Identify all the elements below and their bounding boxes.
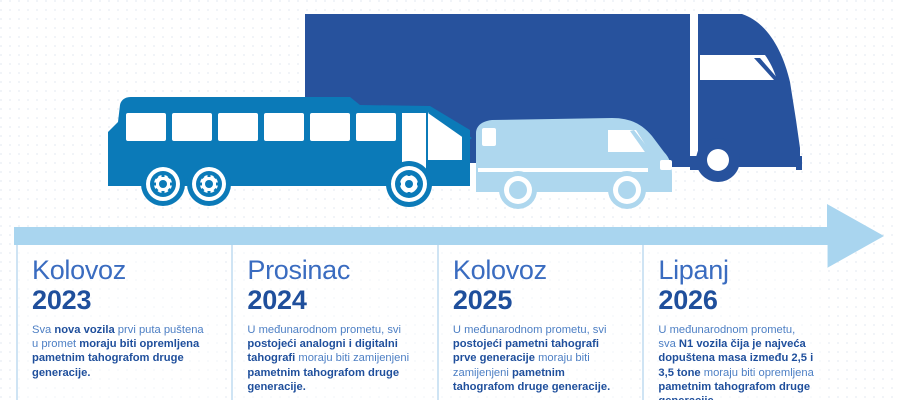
milestone-month: Kolovoz <box>453 255 622 285</box>
milestone-description: U međunarodnom prometu, svi postojeći pa… <box>453 323 622 394</box>
milestone-card-2023[interactable]: Kolovoz 2023 Sva nova vozila prvi puta p… <box>16 245 225 400</box>
milestone-year: 2024 <box>247 285 416 316</box>
plain-text: U međunarodnom prometu, svi <box>453 324 607 336</box>
milestone-month: Lipanj <box>658 255 814 285</box>
milestone-description: U međunarodnom prometu, svi postojeći an… <box>247 323 416 394</box>
tachograph-timeline-infographic: Kolovoz 2023 Sva nova vozila prvi puta p… <box>0 0 900 400</box>
milestone-year: 2023 <box>32 285 211 316</box>
milestone-month: Kolovoz <box>32 255 211 285</box>
plain-text: U međunarodnom prometu, svi <box>247 324 401 336</box>
plain-text: Sva <box>32 324 54 336</box>
milestone-description: Sva nova vozila prvi puta puštena u prom… <box>32 323 211 380</box>
van-illustration <box>476 118 672 209</box>
milestone-description: U međunarodnom prometu, sva N1 vozila či… <box>658 323 814 400</box>
milestone-card-2024[interactable]: Prosinac 2024 U međunarodnom prometu, sv… <box>231 245 430 400</box>
plain-text: moraju biti opremljena <box>701 367 814 379</box>
plain-text: moraju biti zamijenjeni <box>295 352 409 364</box>
milestone-year: 2026 <box>658 285 814 316</box>
emphasis-text: pametnim tahografom druge generacije. <box>247 367 399 393</box>
milestone-year: 2025 <box>453 285 622 316</box>
milestone-month: Prosinac <box>247 255 416 285</box>
emphasis-text: nova vozila <box>54 324 114 336</box>
milestone-card-2026[interactable]: Lipanj 2026 U međunarodnom prometu, sva … <box>642 245 828 400</box>
timeline-cards: Kolovoz 2023 Sva nova vozila prvi puta p… <box>16 245 828 400</box>
emphasis-text: pametnim tahografom druge generacije. <box>658 381 810 400</box>
bus-illustration <box>108 97 472 207</box>
vehicles-illustration <box>0 0 900 215</box>
milestone-card-2025[interactable]: Kolovoz 2025 U međunarodnom prometu, svi… <box>437 245 636 400</box>
